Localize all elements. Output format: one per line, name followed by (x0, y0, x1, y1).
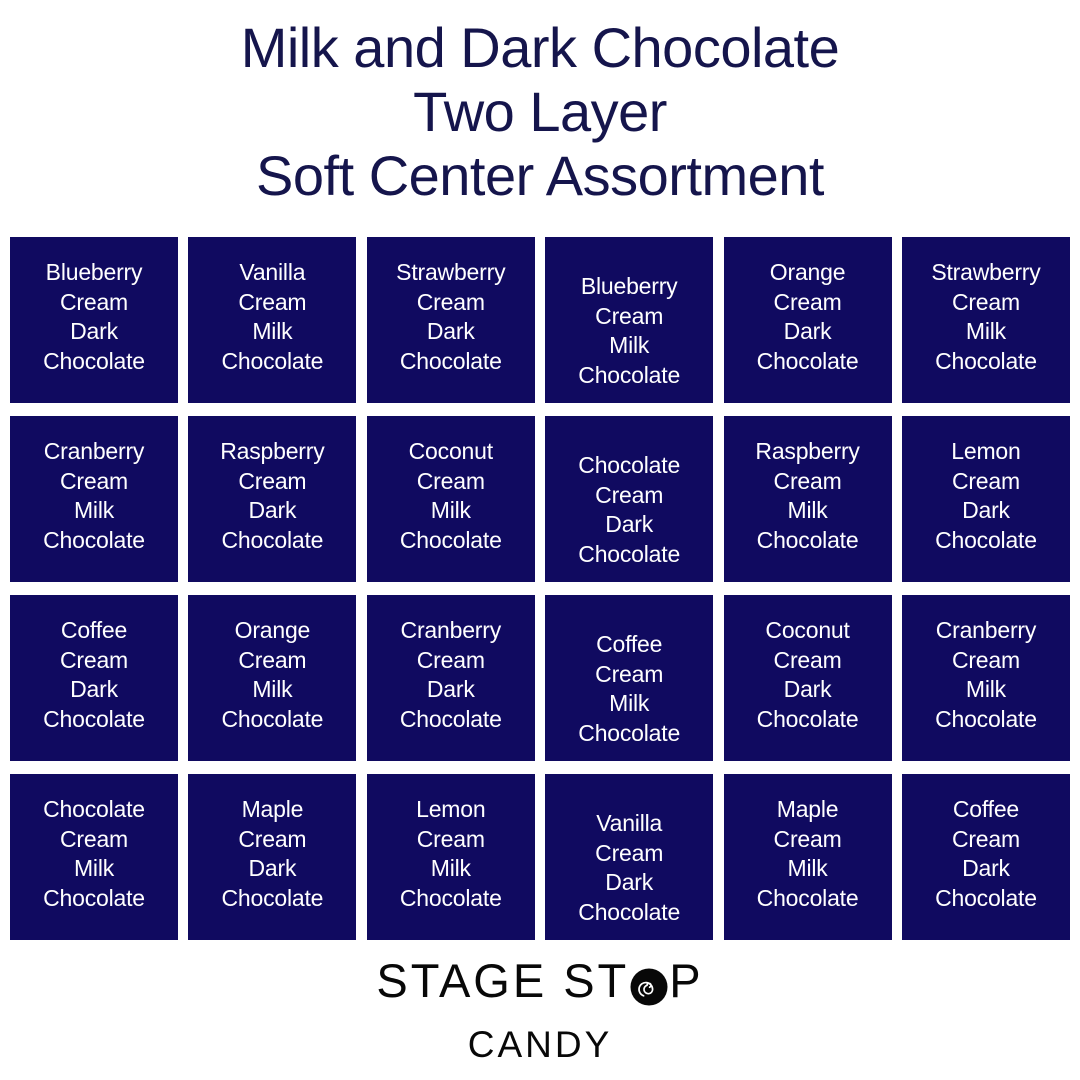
tile-chocolate-word: Chocolate (222, 884, 324, 914)
chocolate-tile: OrangeCreamMilkChocolate (188, 595, 356, 761)
chocolate-tile: BlueberryCreamMilkChocolate (545, 237, 713, 403)
tile-flavor: Blueberry (581, 272, 678, 302)
chocolate-tile: StrawberryCreamMilkChocolate (902, 237, 1070, 403)
tile-flavor: Vanilla (596, 809, 662, 839)
tile-chocolate-word: Chocolate (43, 526, 145, 556)
tile-kind: Cream (417, 825, 485, 855)
tile-chocolate-word: Chocolate (43, 347, 145, 377)
tile-chocolate-word: Chocolate (935, 526, 1037, 556)
tile-chocolate-type: Milk (252, 317, 292, 347)
tile-chocolate-word: Chocolate (578, 898, 680, 928)
tile-flavor: Chocolate (578, 451, 680, 481)
tile-chocolate-type: Milk (788, 854, 828, 884)
chocolate-tile: CranberryCreamMilkChocolate (902, 595, 1070, 761)
tile-chocolate-word: Chocolate (400, 526, 502, 556)
tile-kind: Cream (238, 646, 306, 676)
chocolate-tile: CranberryCreamMilkChocolate (10, 416, 178, 582)
title-line-1: Milk and Dark Chocolate (0, 16, 1080, 80)
chocolate-tile: LemonCreamMilkChocolate (367, 774, 535, 940)
tile-chocolate-word: Chocolate (757, 526, 859, 556)
tile-kind: Cream (952, 467, 1020, 497)
chocolate-tile: RaspberryCreamDarkChocolate (188, 416, 356, 582)
tile-chocolate-word: Chocolate (222, 705, 324, 735)
tile-flavor: Coconut (409, 437, 493, 467)
tile-kind: Cream (774, 825, 842, 855)
tile-flavor: Strawberry (396, 258, 505, 288)
tile-chocolate-word: Chocolate (400, 347, 502, 377)
logo-word-stage: STAGE (376, 955, 547, 1007)
tile-flavor: Cranberry (936, 616, 1036, 646)
chocolate-tile: CranberryCreamDarkChocolate (367, 595, 535, 761)
logo-word-stop-prefix: ST (563, 955, 629, 1007)
tile-chocolate-word: Chocolate (935, 347, 1037, 377)
tile-flavor: Lemon (951, 437, 1020, 467)
tile-chocolate-word: Chocolate (578, 361, 680, 391)
tile-chocolate-type: Dark (249, 854, 297, 884)
logo-wordmark: STAGE ST P (376, 955, 703, 1007)
tile-chocolate-type: Milk (966, 675, 1006, 705)
tile-chocolate-word: Chocolate (400, 884, 502, 914)
tile-chocolate-word: Chocolate (400, 705, 502, 735)
title-line-2: Two Layer (0, 80, 1080, 144)
tile-chocolate-type: Dark (249, 496, 297, 526)
tile-flavor: Orange (235, 616, 311, 646)
tile-flavor: Coffee (61, 616, 127, 646)
tile-flavor: Blueberry (46, 258, 143, 288)
tile-kind: Cream (417, 467, 485, 497)
chocolate-tile: StrawberryCreamDarkChocolate (367, 237, 535, 403)
tile-kind: Cream (774, 467, 842, 497)
tile-chocolate-type: Milk (431, 854, 471, 884)
tile-chocolate-type: Dark (962, 496, 1010, 526)
tile-kind: Cream (595, 839, 663, 869)
tile-flavor: Maple (777, 795, 839, 825)
chocolate-tile: ChocolateCreamDarkChocolate (545, 416, 713, 582)
tile-chocolate-word: Chocolate (757, 705, 859, 735)
logo-word-stop-suffix: P (669, 955, 703, 1007)
tile-flavor: Raspberry (220, 437, 324, 467)
tile-flavor: Cranberry (401, 616, 501, 646)
tile-kind: Cream (774, 288, 842, 318)
tile-chocolate-word: Chocolate (935, 884, 1037, 914)
tile-flavor: Vanilla (239, 258, 305, 288)
tile-kind: Cream (952, 288, 1020, 318)
tile-chocolate-word: Chocolate (578, 719, 680, 749)
tile-chocolate-word: Chocolate (222, 526, 324, 556)
chocolate-tile-grid: BlueberryCreamDarkChocolateVanillaCreamM… (10, 237, 1070, 940)
tile-chocolate-type: Milk (966, 317, 1006, 347)
title-line-3: Soft Center Assortment (0, 144, 1080, 208)
tile-kind: Cream (60, 646, 128, 676)
tile-kind: Cream (595, 481, 663, 511)
assortment-graphic: Milk and Dark Chocolate Two Layer Soft C… (0, 0, 1080, 1080)
tile-chocolate-type: Milk (609, 689, 649, 719)
tile-flavor: Coconut (765, 616, 849, 646)
chocolate-tile: CoconutCreamDarkChocolate (724, 595, 892, 761)
tile-chocolate-type: Dark (70, 317, 118, 347)
tile-flavor: Coffee (953, 795, 1019, 825)
chocolate-tile: OrangeCreamDarkChocolate (724, 237, 892, 403)
chocolate-tile: CoffeeCreamMilkChocolate (545, 595, 713, 761)
tile-flavor: Lemon (416, 795, 485, 825)
tile-chocolate-type: Dark (427, 317, 475, 347)
tile-kind: Cream (60, 288, 128, 318)
chocolate-tile: VanillaCreamMilkChocolate (188, 237, 356, 403)
tile-flavor: Cranberry (44, 437, 144, 467)
tile-kind: Cream (417, 646, 485, 676)
tile-chocolate-type: Dark (427, 675, 475, 705)
tile-chocolate-word: Chocolate (222, 347, 324, 377)
tile-kind: Cream (238, 467, 306, 497)
tile-chocolate-type: Milk (74, 854, 114, 884)
logo-subtitle: CANDY (0, 1024, 1080, 1066)
tile-flavor: Chocolate (43, 795, 145, 825)
lollipop-swirl-icon (630, 964, 668, 1002)
tile-kind: Cream (595, 302, 663, 332)
tile-chocolate-type: Milk (74, 496, 114, 526)
tile-kind: Cream (417, 288, 485, 318)
tile-chocolate-type: Milk (431, 496, 471, 526)
brand-logo: STAGE ST P CANDY (0, 955, 1080, 1066)
tile-kind: Cream (60, 825, 128, 855)
tile-chocolate-type: Dark (70, 675, 118, 705)
tile-chocolate-word: Chocolate (757, 347, 859, 377)
tile-flavor: Orange (770, 258, 846, 288)
tile-chocolate-type: Dark (784, 317, 832, 347)
tile-chocolate-word: Chocolate (43, 705, 145, 735)
chocolate-tile: LemonCreamDarkChocolate (902, 416, 1070, 582)
tile-chocolate-type: Milk (252, 675, 292, 705)
tile-kind: Cream (238, 288, 306, 318)
chocolate-tile: VanillaCreamDarkChocolate (545, 774, 713, 940)
chocolate-tile: CoffeeCreamDarkChocolate (902, 774, 1070, 940)
tile-kind: Cream (595, 660, 663, 690)
tile-chocolate-type: Dark (605, 510, 653, 540)
tile-kind: Cream (774, 646, 842, 676)
tile-kind: Cream (238, 825, 306, 855)
tile-kind: Cream (952, 646, 1020, 676)
tile-chocolate-word: Chocolate (578, 540, 680, 570)
tile-flavor: Raspberry (755, 437, 859, 467)
chocolate-tile: MapleCreamMilkChocolate (724, 774, 892, 940)
chocolate-tile: CoffeeCreamDarkChocolate (10, 595, 178, 761)
chocolate-tile: ChocolateCreamMilkChocolate (10, 774, 178, 940)
chocolate-tile: BlueberryCreamDarkChocolate (10, 237, 178, 403)
tile-chocolate-type: Milk (788, 496, 828, 526)
chocolate-tile: RaspberryCreamMilkChocolate (724, 416, 892, 582)
page-title: Milk and Dark Chocolate Two Layer Soft C… (0, 16, 1080, 208)
chocolate-tile: MapleCreamDarkChocolate (188, 774, 356, 940)
chocolate-tile: CoconutCreamMilkChocolate (367, 416, 535, 582)
tile-chocolate-type: Dark (784, 675, 832, 705)
tile-chocolate-word: Chocolate (43, 884, 145, 914)
tile-flavor: Strawberry (931, 258, 1040, 288)
tile-kind: Cream (952, 825, 1020, 855)
tile-flavor: Maple (242, 795, 304, 825)
tile-chocolate-type: Milk (609, 331, 649, 361)
tile-chocolate-word: Chocolate (935, 705, 1037, 735)
tile-kind: Cream (60, 467, 128, 497)
tile-chocolate-type: Dark (605, 868, 653, 898)
tile-flavor: Coffee (596, 630, 662, 660)
tile-chocolate-type: Dark (962, 854, 1010, 884)
tile-chocolate-word: Chocolate (757, 884, 859, 914)
